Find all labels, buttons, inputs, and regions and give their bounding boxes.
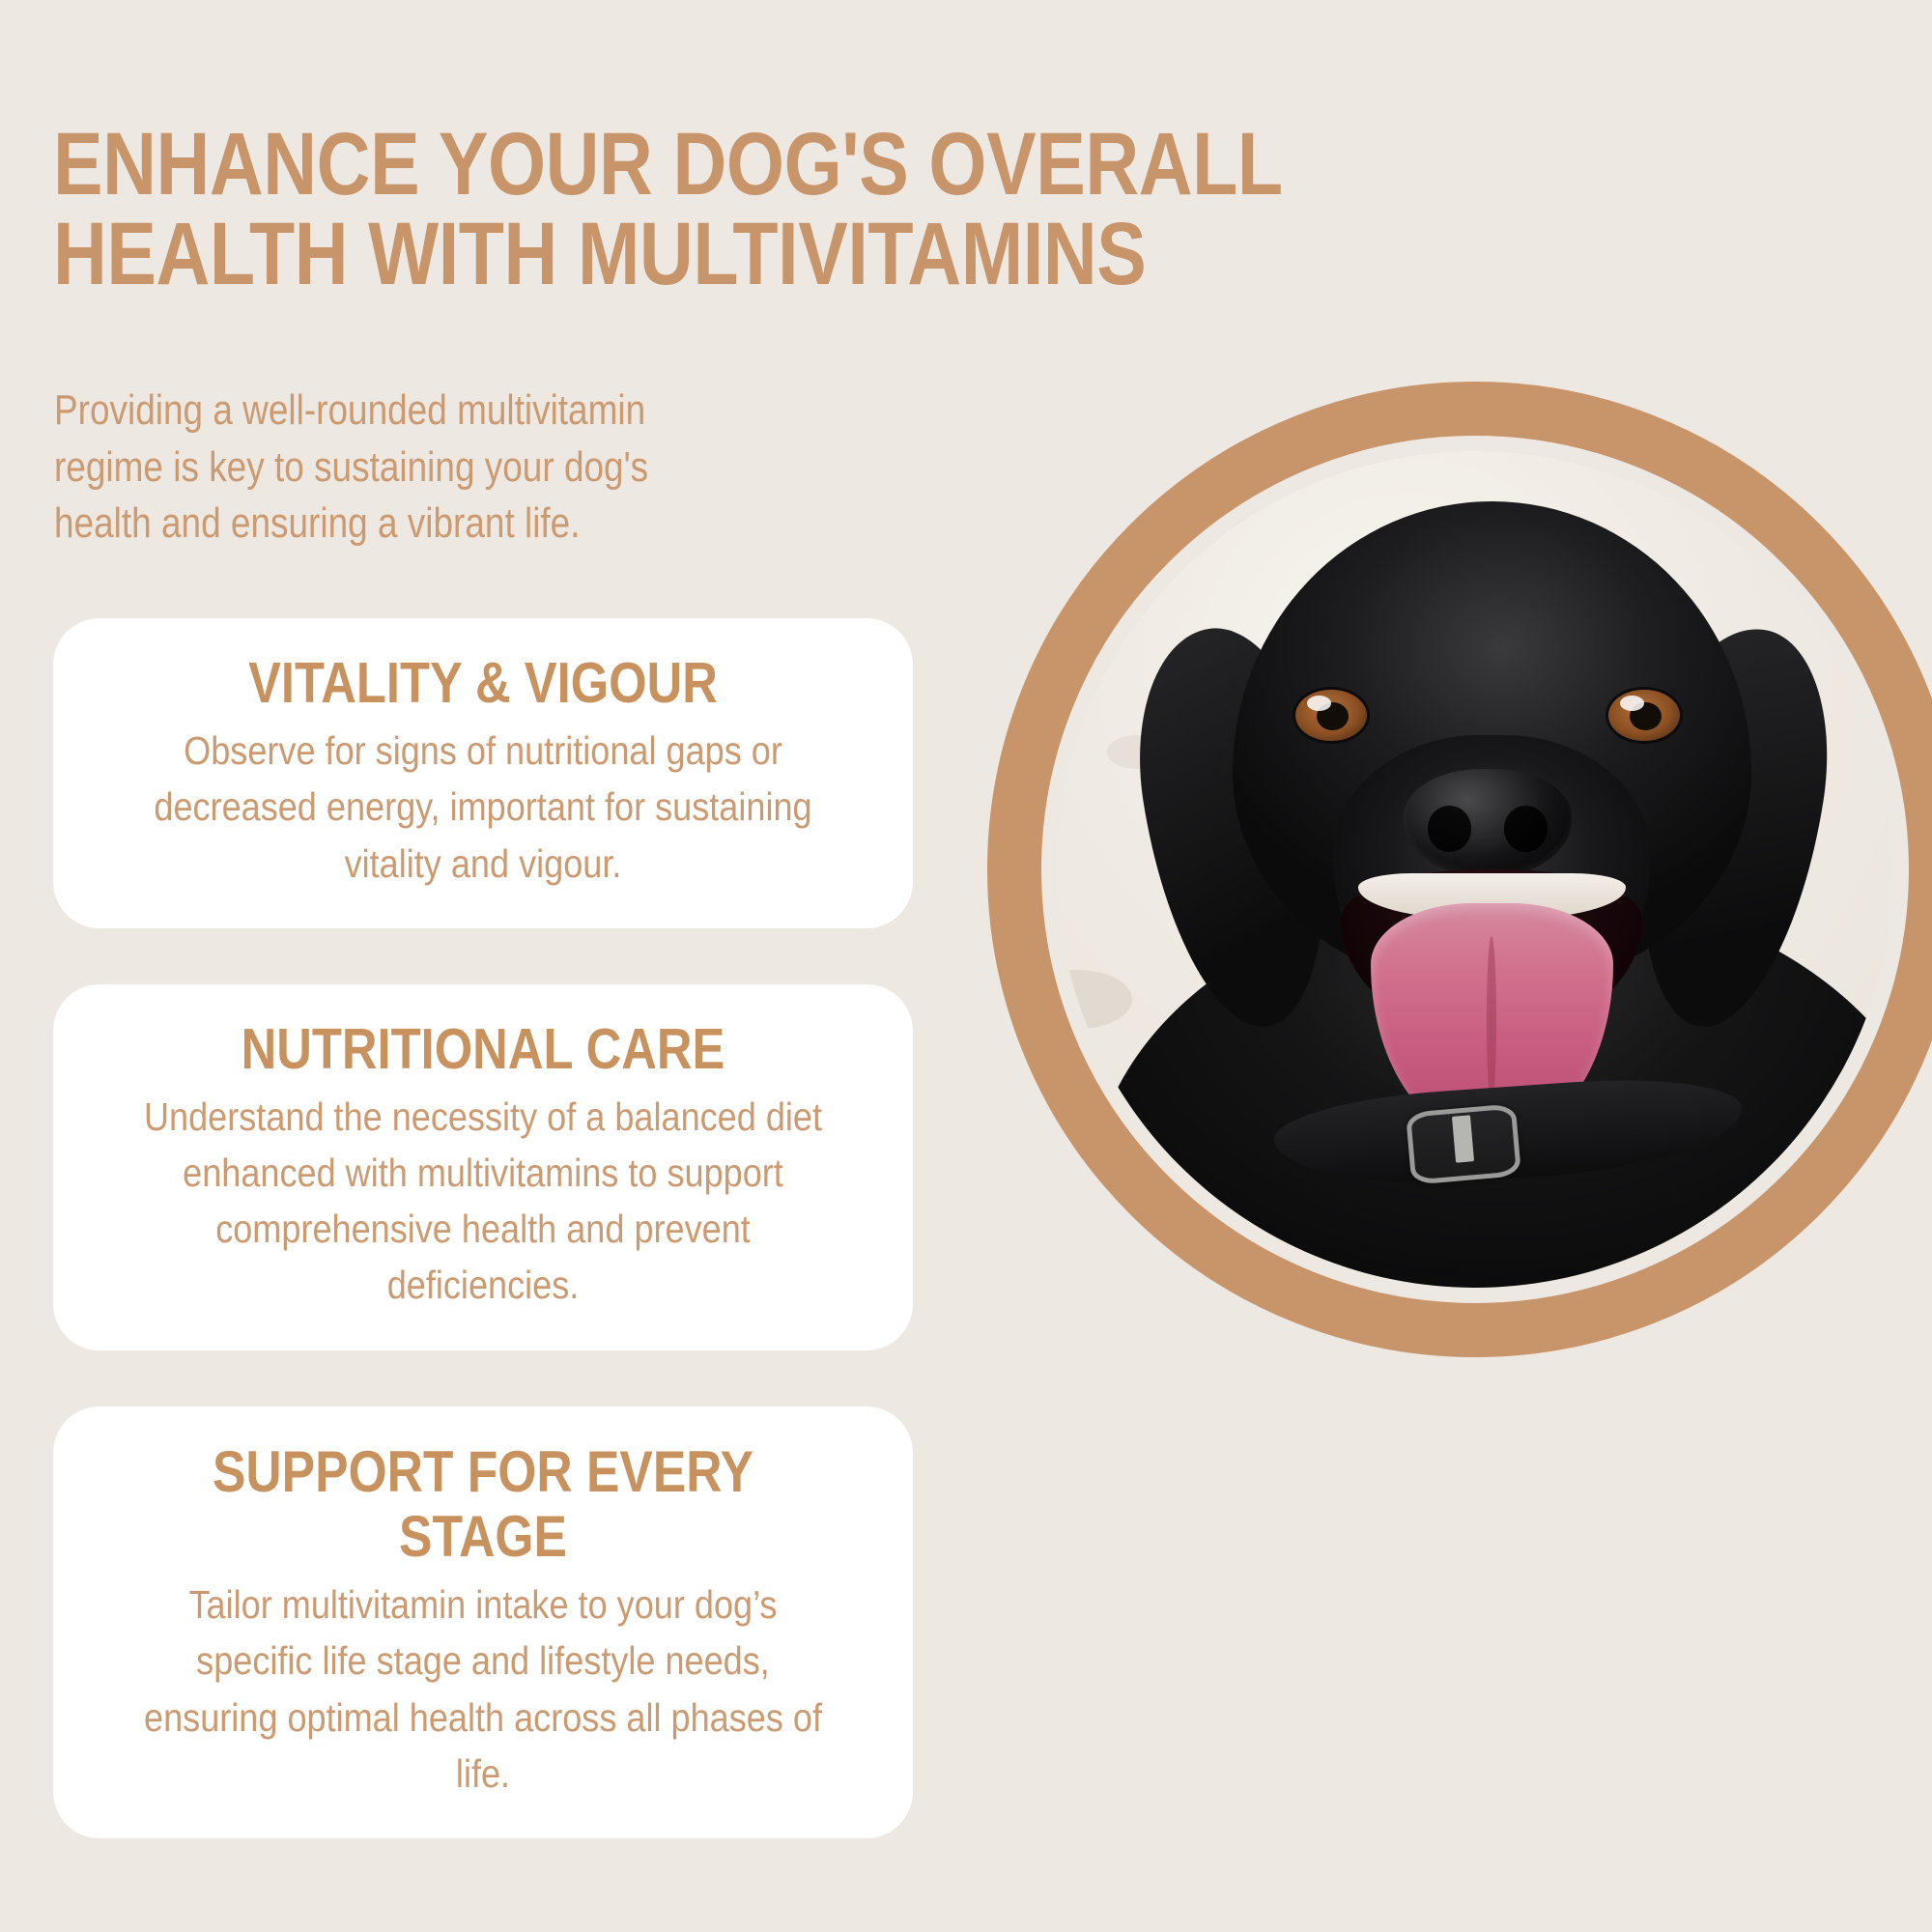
dog-photo-frame	[1057, 451, 1893, 1288]
feature-card-body: Tailor multivitamin intake to your dog’s…	[139, 1577, 828, 1802]
dog-photo-medallion	[987, 382, 1932, 1357]
page-subtitle: Providing a well-rounded multivitamin re…	[54, 383, 768, 553]
feature-card-nutritional-care: NUTRITIONAL CARE Understand the necessit…	[53, 984, 913, 1350]
feature-card-title: SUPPORT FOR EVERY STAGE	[147, 1439, 820, 1569]
feature-card-list: VITALITY & VIGOUR Observe for signs of n…	[53, 618, 913, 1894]
infographic-canvas: ENHANCE YOUR DOG'S OVERALL HEALTH WITH M…	[0, 0, 1932, 1932]
dog-photo	[1057, 451, 1893, 1288]
feature-card-body: Understand the necessity of a balanced d…	[139, 1089, 828, 1314]
feature-card-support-every-stage: SUPPORT FOR EVERY STAGE Tailor multivita…	[53, 1406, 913, 1838]
feature-card-title: NUTRITIONAL CARE	[147, 1017, 820, 1081]
dog-illustration	[1057, 451, 1893, 1288]
page-title: ENHANCE YOUR DOG'S OVERALL HEALTH WITH M…	[53, 120, 1400, 301]
feature-card-title: VITALITY & VIGOUR	[147, 651, 820, 715]
feature-card-body: Observe for signs of nutritional gaps or…	[139, 723, 828, 892]
feature-card-vitality: VITALITY & VIGOUR Observe for signs of n…	[53, 618, 913, 928]
dog-nose	[1404, 769, 1571, 878]
